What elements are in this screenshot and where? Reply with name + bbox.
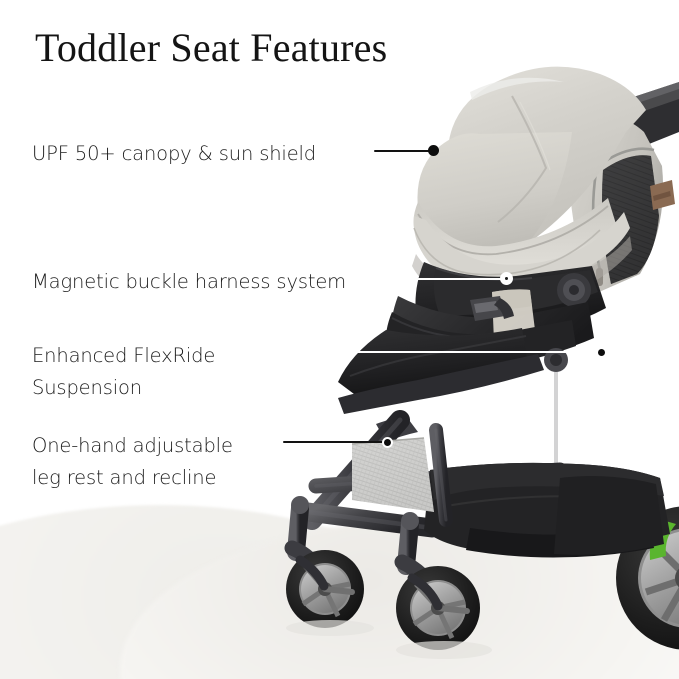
callout-label-one-hand-legrest: One-hand adjustable leg rest and recline — [32, 430, 233, 494]
leader-dot-upf-canopy — [428, 145, 439, 156]
callout-text: UPF 50+ canopy & sun shield — [32, 142, 316, 165]
product-feature-infographic: Toddler Seat Features UPF 50+ canopy & s… — [0, 0, 679, 679]
page-title: Toddler Seat Features — [35, 24, 387, 71]
callout-text-line2: Suspension — [32, 372, 215, 404]
leader-dot-one-hand-legrest — [382, 437, 393, 448]
callout-label-upf-canopy: UPF 50+ canopy & sun shield — [32, 138, 316, 170]
leader-dot-flexride-suspension — [596, 347, 607, 358]
leader-dot-magnetic-buckle — [500, 272, 513, 285]
leader-line-one-hand-legrest — [283, 441, 386, 443]
callout-label-magnetic-buckle: Magnetic buckle harness system — [32, 266, 346, 298]
callout-text-line1: One-hand adjustable — [32, 434, 233, 457]
callout-text-line1: Enhanced FlexRide — [32, 344, 215, 367]
callout-text-line2: leg rest and recline — [32, 462, 233, 494]
callout-label-flexride-suspension: Enhanced FlexRide Suspension — [32, 340, 215, 404]
leader-line-magnetic-buckle — [408, 278, 506, 280]
leader-line-upf-canopy — [374, 150, 432, 152]
callout-text: Magnetic buckle harness system — [32, 270, 346, 293]
leader-line-flexride-suspension — [256, 351, 603, 353]
canopy-hinge — [557, 273, 591, 307]
basket-rear — [554, 476, 664, 555]
mesh-basket-panel — [352, 438, 434, 512]
